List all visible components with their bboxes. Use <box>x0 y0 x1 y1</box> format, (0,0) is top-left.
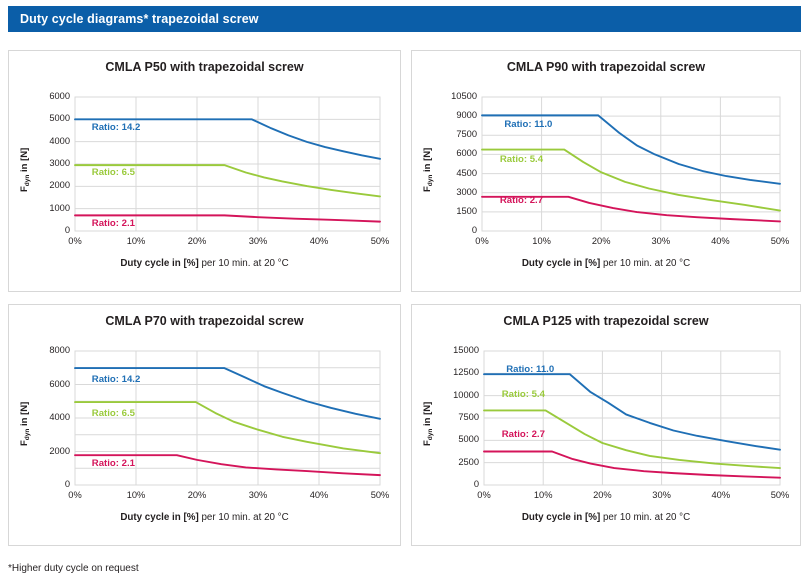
y-axis-tick-label: 5000 <box>49 113 70 123</box>
x-axis-tick-label: 50% <box>760 236 800 246</box>
series-label: Ratio: 5.4 <box>502 389 545 400</box>
x-axis-tick-label: 40% <box>700 236 740 246</box>
x-axis-tick-label: 30% <box>641 236 681 246</box>
y-axis-tick-label: 4000 <box>49 412 70 422</box>
y-axis-tick-label: 10500 <box>451 91 477 101</box>
x-axis-tick-label: 0% <box>464 490 504 500</box>
y-axis-tick-label: 6000 <box>49 379 70 389</box>
chart-panel-cmla-p125: CMLA P125 with trapezoidal screw02500500… <box>411 304 801 546</box>
y-axis-tick-label: 0 <box>65 225 70 235</box>
x-axis-tick-label: 50% <box>760 490 800 500</box>
x-axis-tick-label: 30% <box>238 236 278 246</box>
x-axis-tick-label: 40% <box>701 490 741 500</box>
y-axis-title: Fdyn in [N] <box>422 402 433 446</box>
y-axis-title: Fdyn in [N] <box>19 402 30 446</box>
duty-cycle-diagram-page: Duty cycle diagrams* trapezoidal screw C… <box>0 0 809 582</box>
x-axis-tick-label: 0% <box>462 236 502 246</box>
y-axis-tick-label: 6000 <box>49 91 70 101</box>
header-bar: Duty cycle diagrams* trapezoidal screw <box>8 6 801 32</box>
chart-panel-cmla-p70: CMLA P70 with trapezoidal screw020004000… <box>8 304 401 546</box>
y-axis-tick-label: 8000 <box>49 345 70 355</box>
y-axis-tick-label: 0 <box>472 225 477 235</box>
x-axis-tick-label: 20% <box>177 236 217 246</box>
x-axis-title: Duty cycle in [%] per 10 min. at 20 °C <box>412 512 800 523</box>
y-axis-tick-label: 6000 <box>456 148 477 158</box>
y-axis-tick-label: 3000 <box>456 187 477 197</box>
x-axis-tick-label: 50% <box>360 236 400 246</box>
y-axis-tick-label: 2000 <box>49 180 70 190</box>
x-axis-tick-label: 20% <box>582 490 622 500</box>
footnote: *Higher duty cycle on request <box>8 563 139 574</box>
y-axis-title: Fdyn in [N] <box>422 148 433 192</box>
series-label: Ratio: 11.0 <box>506 364 554 375</box>
chart-panel-cmla-p50: CMLA P50 with trapezoidal screw010002000… <box>8 50 401 292</box>
plot-area <box>9 51 400 291</box>
y-axis-tick-label: 12500 <box>453 367 479 377</box>
x-axis-tick-label: 40% <box>299 490 339 500</box>
y-axis-tick-label: 10000 <box>453 390 479 400</box>
x-axis-tick-label: 30% <box>238 490 278 500</box>
x-axis-tick-label: 10% <box>116 490 156 500</box>
y-axis-tick-label: 0 <box>474 479 479 489</box>
y-axis-tick-label: 2000 <box>49 446 70 456</box>
page-title: Duty cycle diagrams* trapezoidal screw <box>8 12 259 26</box>
y-axis-tick-label: 0 <box>65 479 70 489</box>
x-axis-tick-label: 30% <box>642 490 682 500</box>
x-axis-tick-label: 40% <box>299 236 339 246</box>
x-axis-tick-label: 50% <box>360 490 400 500</box>
series-label: Ratio: 11.0 <box>504 119 552 130</box>
x-axis-title: Duty cycle in [%] per 10 min. at 20 °C <box>9 258 400 269</box>
y-axis-tick-label: 5000 <box>458 434 479 444</box>
y-axis-tick-label: 3000 <box>49 158 70 168</box>
x-axis-tick-label: 10% <box>523 490 563 500</box>
series-label: Ratio: 2.1 <box>92 458 135 469</box>
plot-area <box>412 305 800 545</box>
series-label: Ratio: 2.7 <box>502 429 545 440</box>
chart-panel-cmla-p90: CMLA P90 with trapezoidal screw015003000… <box>411 50 801 292</box>
series-label: Ratio: 6.5 <box>92 408 135 419</box>
series-label: Ratio: 14.2 <box>92 374 141 385</box>
x-axis-tick-label: 0% <box>55 490 95 500</box>
y-axis-tick-label: 9000 <box>456 110 477 120</box>
series-label: Ratio: 2.7 <box>500 195 543 206</box>
y-axis-tick-label: 4500 <box>456 168 477 178</box>
y-axis-tick-label: 15000 <box>453 345 479 355</box>
y-axis-tick-label: 1000 <box>49 203 70 213</box>
x-axis-tick-label: 0% <box>55 236 95 246</box>
y-axis-tick-label: 7500 <box>456 129 477 139</box>
y-axis-tick-label: 1500 <box>456 206 477 216</box>
series-label: Ratio: 14.2 <box>92 122 141 133</box>
x-axis-title: Duty cycle in [%] per 10 min. at 20 °C <box>9 512 400 523</box>
series-label: Ratio: 5.4 <box>500 154 543 165</box>
y-axis-title: Fdyn in [N] <box>19 148 30 192</box>
series-label: Ratio: 6.5 <box>92 167 135 178</box>
series-label: Ratio: 2.1 <box>92 218 135 229</box>
y-axis-tick-label: 7500 <box>458 412 479 422</box>
y-axis-tick-label: 2500 <box>458 457 479 467</box>
x-axis-tick-label: 10% <box>116 236 156 246</box>
x-axis-title: Duty cycle in [%] per 10 min. at 20 °C <box>412 258 800 269</box>
x-axis-tick-label: 10% <box>522 236 562 246</box>
plot-area <box>9 305 400 545</box>
charts-grid: CMLA P50 with trapezoidal screw010002000… <box>8 50 801 550</box>
x-axis-tick-label: 20% <box>177 490 217 500</box>
x-axis-tick-label: 20% <box>581 236 621 246</box>
y-axis-tick-label: 4000 <box>49 136 70 146</box>
